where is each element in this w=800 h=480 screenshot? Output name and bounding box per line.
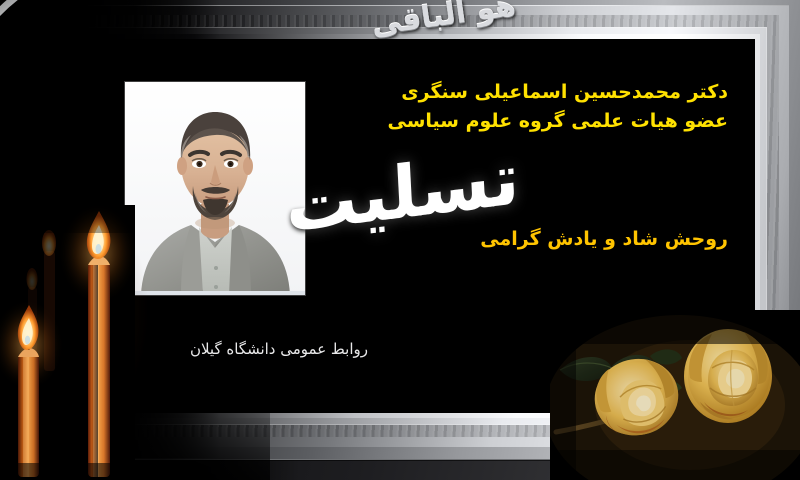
- memorial-wish-text: روحش شاد و یادش گرامی: [480, 228, 728, 250]
- portrait-photo: [125, 82, 305, 295]
- deceased-info: دکتر محمدحسین اسماعیلی سنگری عضو هیات عل…: [388, 78, 729, 137]
- deceased-name: دکتر محمدحسین اسماعیلی سنگری: [388, 78, 729, 107]
- condolence-poster: هو الباقی: [0, 0, 800, 480]
- deceased-position: عضو هیات علمی گروه علوم سیاسی: [388, 107, 729, 136]
- signature-public-relations: روابط عمومی دانشگاه گیلان: [190, 340, 368, 358]
